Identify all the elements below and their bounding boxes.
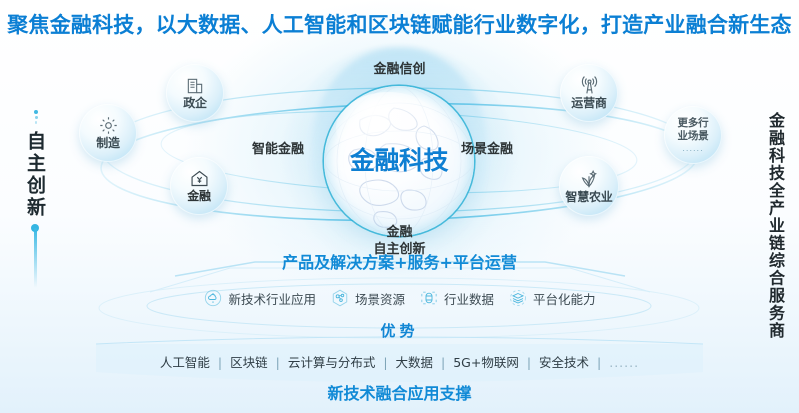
signal-tower-icon — [579, 75, 600, 96]
left-decorative-dots — [31, 110, 41, 126]
tech-item: 区块链 — [230, 355, 268, 370]
node-finance[interactable]: 金融 — [170, 157, 228, 215]
node-label: 金融 — [187, 190, 211, 204]
tech-item: 大数据 — [396, 355, 434, 370]
building-icon — [185, 76, 205, 96]
node-smart-agriculture[interactable]: 智慧农业 — [559, 156, 619, 216]
node-label-line-1: 更多行 — [678, 117, 709, 130]
node-label-line-2: 业场景 — [678, 130, 709, 143]
tech-item: 安全技术 — [539, 355, 589, 370]
tech-more: ...... — [609, 355, 639, 370]
bottom-headline: 新技术融合应用支撑 — [0, 380, 799, 404]
tech-separator: | — [272, 355, 284, 370]
node-manufacturing[interactable]: 制造 — [79, 104, 137, 162]
tech-separator: | — [379, 355, 391, 370]
cloud-tech-icon — [203, 288, 223, 308]
ring-label-right: 场景金融 — [461, 138, 513, 157]
tech-separator: | — [214, 355, 226, 370]
platform-headline: 产品及解决方案+服务+平台运营 — [0, 249, 799, 273]
ring-label-top: 金融信创 — [0, 58, 799, 77]
infographic-canvas: 聚焦金融科技，以大数据、人工智能和区块链赋能行业数字化，打造产业融合新生态 — [0, 0, 799, 413]
capability-label: 平台化能力 — [533, 289, 596, 308]
tech-separator: | — [437, 355, 449, 370]
tech-item: 5G+物联网 — [453, 355, 519, 370]
node-ellipsis: ...... — [682, 144, 703, 153]
bank-yuan-icon — [189, 168, 210, 189]
advantage-label: 优势 — [0, 320, 799, 341]
capability-label: 场景资源 — [355, 289, 405, 308]
node-label: 运营商 — [571, 97, 606, 111]
globe-label: 金融科技 — [324, 141, 474, 177]
capability-item-scenario-resource[interactable]: 场景资源 — [330, 288, 405, 308]
layers-icon — [508, 288, 528, 308]
capability-item-new-tech[interactable]: 新技术行业应用 — [203, 288, 316, 308]
node-label: 政企 — [183, 97, 207, 111]
smart-agriculture-icon — [578, 168, 600, 190]
technology-list: 人工智能 | 区块链 | 云计算与分布式 | 大数据 | 5G+物联网 | 安全… — [0, 352, 799, 371]
node-label: 智慧农业 — [565, 191, 612, 205]
node-telecom-operator[interactable]: 运营商 — [560, 64, 618, 122]
gear-icon — [98, 115, 119, 136]
database-icon — [419, 288, 439, 308]
capability-label: 新技术行业应用 — [228, 289, 316, 308]
tech-item: 人工智能 — [160, 355, 210, 370]
tech-separator: | — [593, 355, 605, 370]
node-government-enterprise[interactable]: 政企 — [166, 64, 224, 122]
capability-item-platform-capability[interactable]: 平台化能力 — [508, 288, 596, 308]
node-network-icon — [330, 288, 350, 308]
node-label: 制造 — [96, 137, 120, 151]
capability-label: 行业数据 — [444, 289, 494, 308]
capability-item-industry-data[interactable]: 行业数据 — [419, 288, 494, 308]
central-globe: 金融科技 — [324, 86, 474, 236]
tech-item: 云计算与分布式 — [288, 355, 376, 370]
tech-separator: | — [523, 355, 535, 370]
ring-label-left: 智能金融 — [252, 138, 304, 157]
node-more-industry-scenarios[interactable]: 更多行 业场景 ...... — [664, 106, 722, 164]
left-vertical-text: 自主创新 — [22, 131, 49, 219]
capability-row: 新技术行业应用 场景资源 行业数据 — [0, 288, 799, 308]
